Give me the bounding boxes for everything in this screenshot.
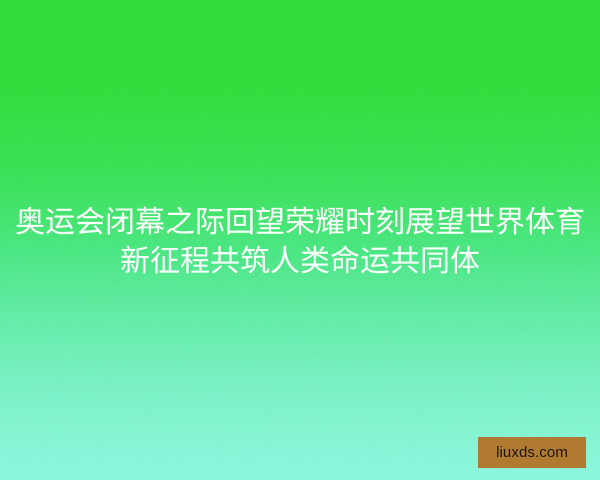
page-title: 奥运会闭幕之际回望荣耀时刻展望世界体育新征程共筑人类命运共同体 <box>0 203 600 281</box>
image-canvas: 奥运会闭幕之际回望荣耀时刻展望世界体育新征程共筑人类命运共同体 liuxds.c… <box>0 0 600 480</box>
watermark-label: liuxds.com <box>496 444 568 461</box>
watermark-badge: liuxds.com <box>478 437 586 468</box>
